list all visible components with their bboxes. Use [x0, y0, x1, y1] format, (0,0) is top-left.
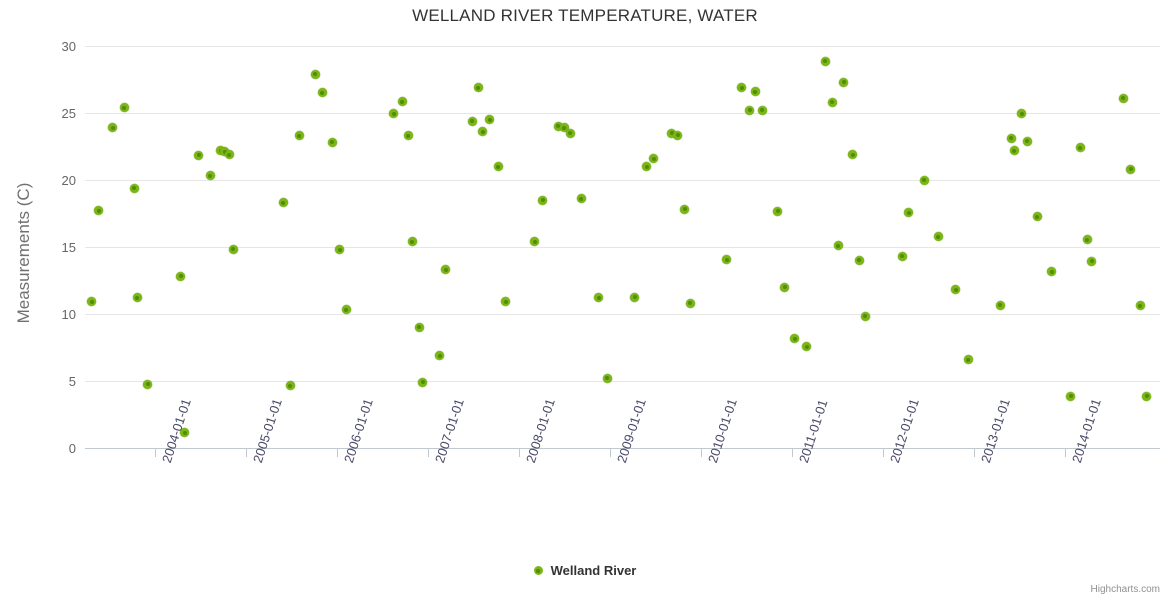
y-axis-tick-label: 15	[32, 241, 76, 254]
gridline	[85, 180, 1160, 181]
data-point[interactable]	[120, 103, 129, 112]
data-point[interactable]	[1066, 392, 1075, 401]
data-point[interactable]	[1136, 301, 1145, 310]
data-point[interactable]	[934, 232, 943, 241]
data-point[interactable]	[758, 106, 767, 115]
data-point[interactable]	[176, 272, 185, 281]
data-point[interactable]	[839, 78, 848, 87]
x-axis-tick-mark	[883, 449, 884, 457]
x-axis-tick-mark	[610, 449, 611, 457]
data-point[interactable]	[415, 323, 424, 332]
data-point[interactable]	[1142, 392, 1151, 401]
data-point[interactable]	[1047, 267, 1056, 276]
data-point[interactable]	[673, 131, 682, 140]
legend-item-label: Welland River	[551, 563, 637, 578]
x-axis-tick-mark	[155, 449, 156, 457]
data-point[interactable]	[566, 129, 575, 138]
data-point[interactable]	[318, 88, 327, 97]
data-point[interactable]	[737, 83, 746, 92]
chart-container: WELLAND RIVER TEMPERATURE, WATER Measure…	[0, 0, 1170, 600]
data-point[interactable]	[1017, 109, 1026, 118]
data-point[interactable]	[828, 98, 837, 107]
data-point[interactable]	[286, 381, 295, 390]
data-point[interactable]	[143, 380, 152, 389]
data-point[interactable]	[133, 293, 142, 302]
data-point[interactable]	[474, 83, 483, 92]
data-point[interactable]	[686, 299, 695, 308]
y-axis-tick-label: 20	[32, 174, 76, 187]
x-axis-tick-mark	[519, 449, 520, 457]
data-point[interactable]	[478, 127, 487, 136]
legend-marker-icon	[534, 566, 543, 575]
data-point[interactable]	[435, 351, 444, 360]
chart-legend: Welland River	[0, 563, 1170, 578]
data-point[interactable]	[680, 205, 689, 214]
data-point[interactable]	[649, 154, 658, 163]
data-point[interactable]	[1083, 235, 1092, 244]
data-point[interactable]	[577, 194, 586, 203]
data-point[interactable]	[1126, 165, 1135, 174]
x-axis-tick-mark	[1065, 449, 1066, 457]
data-point[interactable]	[802, 342, 811, 351]
data-point[interactable]	[538, 196, 547, 205]
data-point[interactable]	[1119, 94, 1128, 103]
data-point[interactable]	[130, 184, 139, 193]
data-point[interactable]	[530, 237, 539, 246]
data-point[interactable]	[485, 115, 494, 124]
data-point[interactable]	[780, 283, 789, 292]
data-point[interactable]	[722, 255, 731, 264]
plot-area	[85, 46, 1160, 448]
data-point[interactable]	[964, 355, 973, 364]
gridline	[85, 46, 1160, 47]
data-point[interactable]	[441, 265, 450, 274]
chart-title: WELLAND RIVER TEMPERATURE, WATER	[0, 6, 1170, 26]
data-point[interactable]	[848, 150, 857, 159]
data-point[interactable]	[494, 162, 503, 171]
gridline	[85, 247, 1160, 248]
x-axis-tick-mark	[246, 449, 247, 457]
data-point[interactable]	[194, 151, 203, 160]
data-point[interactable]	[1033, 212, 1042, 221]
data-point[interactable]	[1007, 134, 1016, 143]
gridline	[85, 113, 1160, 114]
x-axis-tick-mark	[974, 449, 975, 457]
data-point[interactable]	[108, 123, 117, 132]
data-point[interactable]	[279, 198, 288, 207]
data-point[interactable]	[855, 256, 864, 265]
data-point[interactable]	[225, 150, 234, 159]
data-point[interactable]	[87, 297, 96, 306]
gridline	[85, 314, 1160, 315]
data-point[interactable]	[1023, 137, 1032, 146]
y-axis-tick-label: 0	[32, 442, 76, 455]
y-axis-tick-label: 30	[32, 40, 76, 53]
data-point[interactable]	[1010, 146, 1019, 155]
gridline	[85, 381, 1160, 382]
data-point[interactable]	[501, 297, 510, 306]
data-point[interactable]	[642, 162, 651, 171]
data-point[interactable]	[920, 176, 929, 185]
data-point[interactable]	[904, 208, 913, 217]
x-axis-tick-mark	[428, 449, 429, 457]
y-axis-tick-label: 10	[32, 308, 76, 321]
data-point[interactable]	[408, 237, 417, 246]
data-point[interactable]	[295, 131, 304, 140]
data-point[interactable]	[404, 131, 413, 140]
data-point[interactable]	[468, 117, 477, 126]
y-axis-tick-label: 25	[32, 107, 76, 120]
y-axis-tick-label: 5	[32, 375, 76, 388]
chart-credits[interactable]: Highcharts.com	[1091, 584, 1160, 595]
data-point[interactable]	[335, 245, 344, 254]
data-point[interactable]	[861, 312, 870, 321]
data-point[interactable]	[996, 301, 1005, 310]
data-point[interactable]	[328, 138, 337, 147]
data-point[interactable]	[821, 57, 830, 66]
data-point[interactable]	[751, 87, 760, 96]
y-axis-labels: 051015202530	[20, 46, 76, 448]
data-point[interactable]	[790, 334, 799, 343]
data-point[interactable]	[94, 206, 103, 215]
data-point[interactable]	[1076, 143, 1085, 152]
data-point[interactable]	[389, 109, 398, 118]
data-point[interactable]	[206, 171, 215, 180]
data-point[interactable]	[311, 70, 320, 79]
data-point[interactable]	[603, 374, 612, 383]
data-point[interactable]	[773, 207, 782, 216]
x-axis-tick-mark	[792, 449, 793, 457]
data-point[interactable]	[951, 285, 960, 294]
data-point[interactable]	[398, 97, 407, 106]
data-point[interactable]	[594, 293, 603, 302]
data-point[interactable]	[418, 378, 427, 387]
data-point[interactable]	[630, 293, 639, 302]
x-axis-tick-mark	[337, 449, 338, 457]
data-point[interactable]	[1087, 257, 1096, 266]
data-point[interactable]	[898, 252, 907, 261]
data-point[interactable]	[342, 305, 351, 314]
data-point[interactable]	[229, 245, 238, 254]
x-axis-tick-mark	[701, 449, 702, 457]
legend-item-welland-river[interactable]: Welland River	[534, 563, 637, 578]
data-point[interactable]	[834, 241, 843, 250]
